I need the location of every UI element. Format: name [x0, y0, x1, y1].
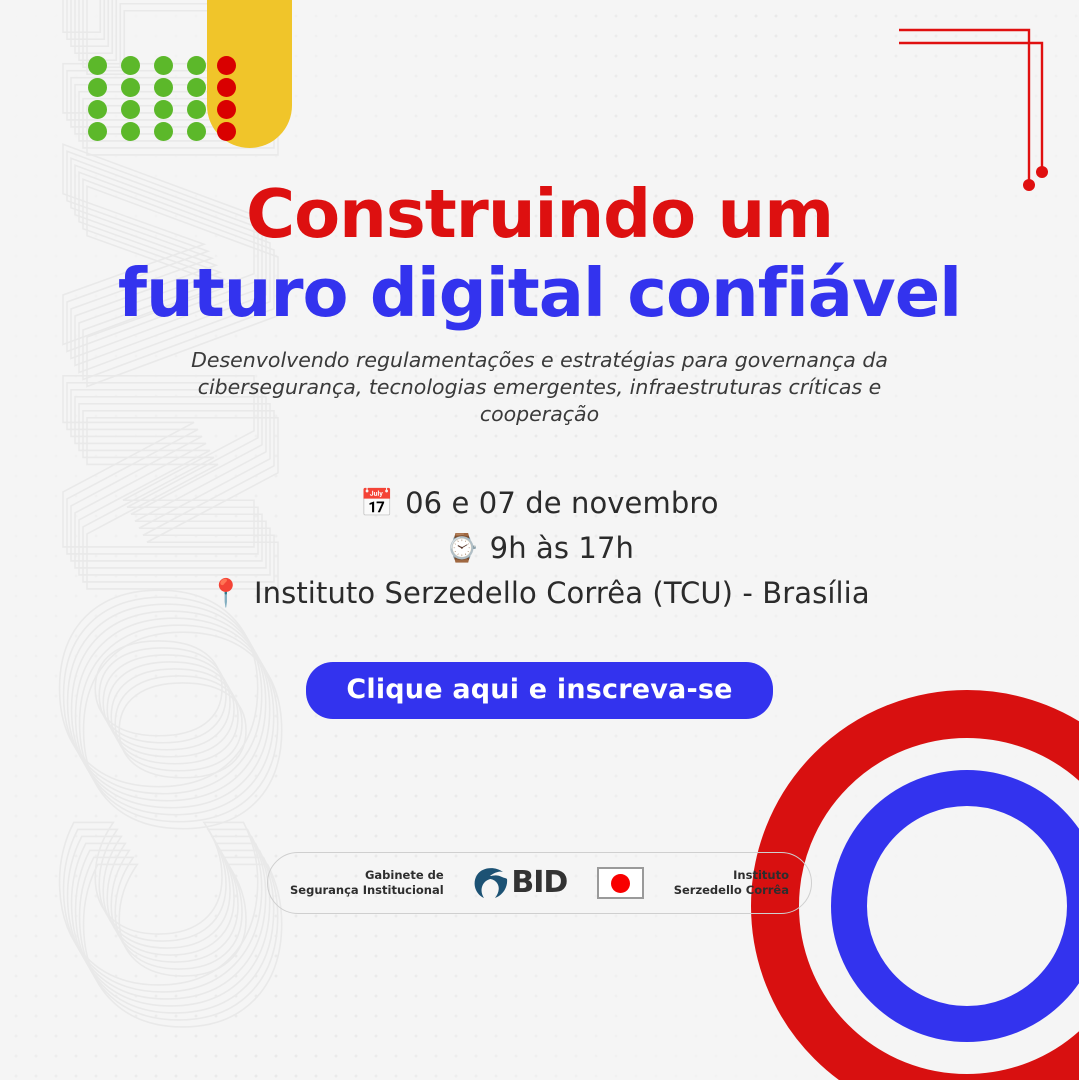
detail-date: 📅 06 e 07 de novembro: [360, 486, 718, 520]
sponsor-gabinete-seguranca-institucional: Gabinete de Segurança Institucional: [290, 868, 444, 898]
sponsor-gsi-line-2: Segurança Institucional: [290, 883, 444, 898]
japan-flag-icon: [597, 867, 644, 899]
event-invitation-poster: CONVITE CONVITE CONVITE CONVITE CONVITE …: [0, 0, 1079, 1080]
sponsor-bar: Gabinete de Segurança Institucional BID …: [267, 852, 812, 914]
detail-location: 📍 Instituto Serzedello Corrêa (TCU) - Br…: [209, 576, 869, 610]
headline-line-1: Construindo um: [118, 175, 961, 254]
sponsor-gsi-line-1: Gabinete de: [290, 868, 444, 883]
event-details: 📅 06 e 07 de novembro ⌚ 9h às 17h 📍 Inst…: [209, 486, 869, 610]
page-title: Construindo um futuro digital confiável: [118, 175, 961, 333]
calendar-icon: 📅: [360, 490, 394, 517]
sponsor-isc-line-1: Instituto: [674, 868, 789, 883]
location-pin-icon: 📍: [209, 580, 243, 607]
headline-line-2: futuro digital confiável: [118, 254, 961, 333]
subtitle: Desenvolvendo regulamentações e estratég…: [140, 347, 940, 428]
detail-date-text: 06 e 07 de novembro: [405, 486, 718, 520]
detail-location-text: Instituto Serzedello Corrêa (TCU) - Bras…: [254, 576, 870, 610]
poster-content: Construindo um futuro digital confiável …: [0, 0, 1079, 914]
sponsor-isc-line-2: Serzedello Corrêa: [674, 883, 789, 898]
bid-globe-icon: [473, 866, 509, 900]
watch-clock-icon: ⌚: [445, 535, 479, 562]
bid-wordmark: BID: [511, 868, 567, 898]
detail-time-text: 9h às 17h: [490, 531, 634, 565]
sponsor-bid: BID: [473, 866, 567, 900]
register-button[interactable]: Clique aqui e inscreva-se: [306, 662, 772, 719]
detail-time: ⌚ 9h às 17h: [445, 531, 634, 565]
japan-flag-sun: [611, 874, 630, 893]
sponsor-instituto-serzedello-correa: Instituto Serzedello Corrêa: [674, 868, 789, 898]
